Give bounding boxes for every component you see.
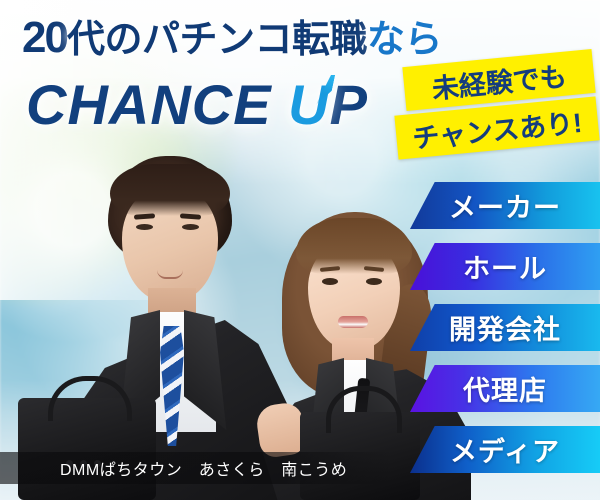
category-button-hall[interactable]: ホール: [410, 243, 600, 290]
logo-u-swoosh-icon: U: [288, 73, 329, 136]
logo-word-up: UP: [288, 72, 368, 137]
category-button-hall-label: ホール: [463, 247, 547, 286]
logo-word-chance: CHANCE: [26, 73, 272, 136]
logo-letter-p: P: [330, 73, 368, 136]
category-button-agency-label: 代理店: [463, 369, 547, 408]
category-button-media[interactable]: メディア: [410, 426, 600, 473]
chance-up-logo: CHANCE UP: [26, 72, 368, 137]
headline-suffix: なら: [367, 19, 442, 61]
headline: 20代のパチンコ転職なら: [22, 16, 422, 60]
category-button-agency[interactable]: 代理店: [410, 365, 600, 412]
headline-number: 20: [22, 13, 67, 62]
businessman-eye-right: [182, 224, 199, 230]
businesswoman-mouth: [338, 316, 368, 328]
businesswoman-eye-left: [322, 278, 338, 285]
category-button-media-label: メディア: [450, 430, 560, 469]
category-button-maker-label: メーカー: [449, 186, 561, 225]
pachinko-job-ad-banner: 20代のパチンコ転職なら CHANCE UP 未経験でも チャンスあり! メーカ…: [0, 0, 600, 500]
caption-band: DMMぱちタウン あさくら 南こうめ: [0, 452, 392, 484]
businesswoman-fringe: [296, 218, 412, 274]
briefcase-left: [18, 398, 156, 500]
category-button-development-company-label: 開発会社: [449, 308, 561, 347]
caption-text: DMMぱちタウン あさくら 南こうめ: [60, 456, 347, 480]
businessman-eye-left: [136, 224, 153, 230]
businesswoman-eye-right: [366, 278, 382, 285]
category-button-maker[interactable]: メーカー: [410, 182, 600, 229]
headline-main: 代のパチンコ転職: [67, 19, 367, 61]
category-button-development-company[interactable]: 開発会社: [410, 304, 600, 351]
businessman-fringe: [110, 164, 230, 216]
